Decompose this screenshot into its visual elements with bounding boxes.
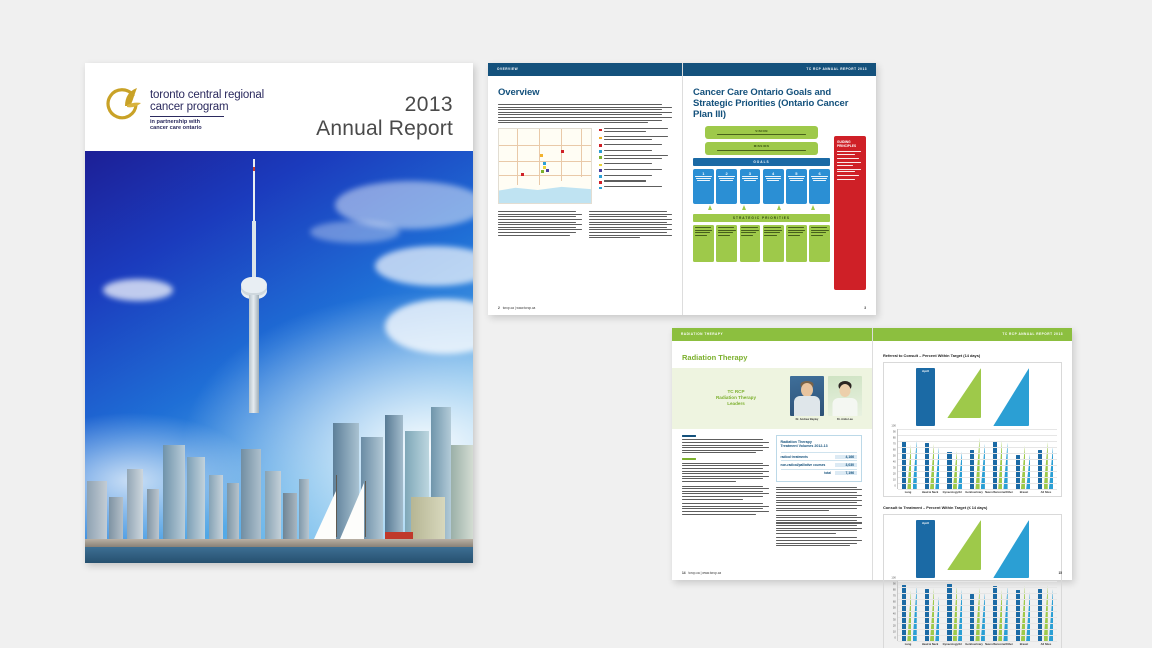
mission-text (705, 150, 818, 151)
x-tick-label: Neuro/Sarcoma/Other (985, 491, 1013, 494)
building (265, 471, 281, 541)
page-title: Overview (498, 87, 672, 98)
goal-number: 6 (811, 171, 829, 176)
partner-line-2: cancer care ontario (150, 125, 264, 131)
bar-group (989, 429, 1012, 489)
page-radiation-therapy: RADIATION THERAPY Radiation Therapy TC R… (672, 328, 872, 580)
body-columns: Radiation Therapy Treatment Volumes 2012… (682, 435, 862, 548)
y-tick-label: 20 (893, 473, 896, 476)
building (385, 415, 403, 541)
callout-title-line-2: Treatment Volumes 2012-13 (781, 444, 858, 449)
y-tick-label: 60 (893, 449, 896, 452)
building (411, 497, 445, 541)
annual-report-cover: toronto central regional cancer program … (85, 63, 473, 563)
bar-group (921, 429, 944, 489)
page-title-line-1: Cancer Care Ontario Goals and (693, 87, 866, 98)
legend-item (599, 136, 672, 141)
spread-overview: OVERVIEW Overview (488, 63, 876, 315)
bar (1003, 587, 1007, 642)
y-tick-label: 80 (893, 437, 896, 440)
x-tick-label: All Sites (1035, 491, 1057, 494)
page-content: Cancer Care Ontario Goals and Strategic … (683, 76, 876, 294)
priority-box (763, 225, 784, 262)
gridline (898, 605, 1057, 606)
torso (833, 398, 858, 416)
principle-item (837, 179, 863, 180)
cover-title-block: 2013 Annual Report (316, 93, 453, 141)
flow-arrows (693, 204, 830, 211)
vision-box: VISION (705, 126, 818, 139)
spread-radiation-therapy: RADIATION THERAPY Radiation Therapy TC R… (672, 328, 1072, 580)
leader-name: Dr. Anita Lau (828, 418, 862, 421)
chart-frame: April Sept March 0102030405060708090100 … (883, 362, 1062, 497)
avatar (790, 376, 824, 416)
arrow-up-icon (742, 205, 746, 210)
ship-sail (314, 491, 336, 539)
goal-number: 2 (718, 171, 736, 176)
y-tick-label: 80 (893, 589, 896, 592)
page-title-emphasis: Strategic Priorities (693, 98, 775, 109)
map-road (499, 145, 591, 146)
vision-text (705, 134, 818, 135)
bar-group (943, 581, 966, 641)
gridline (898, 477, 1057, 478)
guiding-principles-panel: GUIDING PRINCIPLES (834, 136, 866, 290)
chart-plot-area: 0102030405060708090100 (888, 581, 1057, 641)
legend-swatch (599, 150, 602, 153)
y-tick-label: 30 (893, 619, 896, 622)
face (840, 384, 851, 397)
y-tick-label: 100 (891, 577, 895, 580)
legend-item (599, 155, 672, 160)
bar (953, 586, 957, 641)
y-tick-label: 50 (893, 455, 896, 458)
leaders-label-line-3: Leaders (682, 401, 790, 407)
avatar (828, 376, 862, 416)
callout-row: non-radical/palliative courses 3,030 (781, 460, 858, 468)
chart-frame: April Sept March 0102030405060708090100 … (883, 514, 1062, 648)
goal-number: 1 (695, 171, 713, 176)
page-content: Radiation Therapy TC RCP Radiation Thera… (672, 341, 872, 548)
goal-box: 2 (716, 169, 737, 204)
legend-item (599, 169, 672, 172)
map-road (539, 129, 540, 185)
y-tick-label: 10 (893, 479, 896, 482)
bar-group (1012, 429, 1035, 489)
bar (1044, 585, 1048, 641)
y-tick-label: 0 (894, 485, 896, 488)
bar-group (989, 581, 1012, 641)
y-tick-label: 60 (893, 601, 896, 604)
callout-label: non-radical/palliative courses (781, 463, 826, 467)
gridline (898, 465, 1057, 466)
y-tick-label: 0 (894, 637, 896, 640)
bar-group (898, 581, 921, 641)
map-marker (521, 173, 524, 176)
body-column-right (589, 211, 673, 240)
runhead-label: TC RCP ANNUAL REPORT 2013 (1002, 332, 1063, 336)
bar (1021, 585, 1025, 641)
map-road (581, 129, 582, 177)
map-legend (599, 128, 672, 209)
diagram-main-column: VISION MISSION GOALS 1 2 3 4 (693, 126, 830, 262)
section-heading-goals (682, 435, 696, 437)
page-wait-times-charts: TC RCP ANNUAL REPORT 2013 Referral to Co… (872, 328, 1072, 580)
gridline (898, 447, 1057, 448)
callout-label: radical treatments (781, 455, 808, 459)
y-tick-label: 90 (893, 431, 896, 434)
priority-box (740, 225, 761, 262)
brand-line-2: cancer program (150, 102, 264, 114)
page-number: 3 (864, 306, 866, 310)
callout-row: radical treatments 4,166 (781, 452, 858, 460)
gridline (898, 441, 1057, 442)
x-tick-label: Gynecology/GI (941, 491, 963, 494)
city-skyline (85, 395, 473, 563)
callout-total-label: total (781, 471, 832, 475)
gridline (898, 611, 1057, 612)
page-number: 2 (498, 306, 500, 310)
report-title: Annual Report (316, 116, 453, 141)
gridline (898, 453, 1057, 454)
bar (998, 436, 1002, 489)
bar-group (921, 581, 944, 641)
callout-title: Radiation Therapy Treatment Volumes 2012… (781, 440, 858, 449)
page-runhead: RADIATION THERAPY (672, 328, 872, 341)
face (801, 383, 813, 397)
goals-row: 1 2 3 4 5 6 (693, 169, 830, 204)
y-tick-label: 100 (891, 425, 895, 428)
page-number: 14 (682, 571, 686, 575)
bar (1016, 455, 1020, 489)
cover-photograph (85, 151, 473, 563)
ship-mast (336, 475, 337, 537)
goal-box: 4 (763, 169, 784, 204)
y-axis: 0102030405060708090100 (888, 581, 898, 641)
tower-observation-pod (241, 277, 267, 293)
lake-water (85, 547, 473, 563)
gridline (898, 587, 1057, 588)
mission-caption: MISSION (705, 144, 818, 148)
bar-group (898, 429, 921, 489)
body-columns (498, 211, 672, 240)
building (299, 479, 309, 541)
x-tick-label: Breast (1013, 643, 1035, 646)
legend-item (599, 186, 672, 189)
legend-swatch (599, 175, 602, 178)
arrow-up-icon (708, 205, 712, 210)
gridline (898, 599, 1057, 600)
y-tick-label: 70 (893, 443, 896, 446)
logo-wordmark: toronto central regional cancer program … (150, 90, 264, 131)
map-marker (541, 170, 544, 173)
legend-item (599, 128, 672, 133)
building (87, 481, 107, 541)
page-footer: 14 tcrcp.ca | www.tcrcp.ca (682, 571, 862, 575)
legend-swatch (599, 137, 602, 140)
bar-group (1034, 429, 1057, 489)
callout-total-row: total 7,196 (781, 469, 858, 477)
screenshot-canvas: toronto central regional cancer program … (0, 0, 1152, 648)
callout-value: 4,166 (835, 455, 857, 459)
page-title: Radiation Therapy (682, 353, 862, 362)
gridline (898, 471, 1057, 472)
map-marker (543, 162, 546, 165)
bar (1038, 450, 1042, 489)
legend-swatch (599, 144, 602, 147)
legend-swatch (599, 181, 602, 184)
map-marker (546, 169, 549, 172)
priority-box (693, 225, 714, 262)
chart-legend: April Sept March (888, 520, 1057, 578)
tower-upper-mast (252, 221, 256, 279)
legend-item (599, 144, 672, 147)
chart-title: Referral to Consult – Percent Within Tar… (883, 353, 1062, 358)
bar-group (943, 429, 966, 489)
gridline (898, 641, 1057, 642)
arrow-up-icon (777, 205, 781, 210)
y-axis: 0102030405060708090100 (888, 429, 898, 489)
footer-text: tcrcp.ca | www.tcrcp.ca (503, 306, 536, 310)
callout-total-value: 7,196 (835, 471, 857, 475)
legend-item (599, 150, 672, 153)
leader-name: Dr. Andrew Bayley (790, 418, 824, 421)
bar-group (966, 429, 989, 489)
y-tick-label: 50 (893, 607, 896, 610)
page-cco-goals: TC RCP ANNUAL REPORT 2013 Cancer Care On… (682, 63, 876, 315)
legend-swatch (599, 169, 602, 172)
guiding-principles-title: GUIDING PRINCIPLES (837, 140, 863, 148)
leaders-label: TC RCP Radiation Therapy Leaders (682, 389, 790, 408)
legend-entry: Sept (947, 520, 981, 570)
map-road (517, 129, 518, 185)
legend-item (599, 163, 672, 166)
section-heading-results (682, 458, 696, 460)
bar (930, 586, 934, 641)
x-axis-labels: LungHead & NeckGynecology/GIGenitourinar… (897, 643, 1057, 646)
map-and-legend (498, 128, 672, 209)
building (209, 475, 223, 541)
body-column-left (498, 211, 582, 240)
priority-box (716, 225, 737, 262)
leader-card: Dr. Andrew Bayley (790, 376, 824, 421)
bar-group (1012, 581, 1035, 641)
x-tick-label: Breast (1013, 491, 1035, 494)
ship-sail (340, 483, 364, 539)
logo: toronto central regional cancer program … (103, 83, 264, 131)
goal-number: 4 (764, 171, 782, 176)
leader-card: Dr. Anita Lau (828, 376, 862, 421)
gridline (898, 459, 1057, 460)
y-tick-label: 30 (893, 467, 896, 470)
page-title-line-2: Strategic Priorities (Ontario Cancer Pla… (693, 98, 866, 120)
goal-number: 3 (741, 171, 759, 176)
gridline (898, 593, 1057, 594)
bar (958, 587, 962, 641)
leader-photos: Dr. Andrew Bayley Dr. Anita Lau (790, 376, 862, 421)
page-footer: 3 (693, 306, 866, 310)
gridline (898, 623, 1057, 624)
legend-swatch (599, 187, 602, 190)
legend-entry: April (916, 520, 935, 578)
x-tick-label: Head & Neck (919, 643, 941, 646)
vision-caption: VISION (705, 129, 818, 133)
building (227, 483, 239, 541)
bar (902, 585, 906, 641)
goal-number: 5 (788, 171, 806, 176)
page-title: Cancer Care Ontario Goals and Strategic … (693, 87, 866, 120)
lhin-map (498, 128, 592, 204)
page-content: Referral to Consult – Percent Within Tar… (873, 341, 1072, 648)
cloud (310, 221, 400, 243)
y-tick-label: 70 (893, 595, 896, 598)
bar (925, 589, 929, 641)
legend-entry: April (916, 368, 935, 426)
principle-item (837, 169, 863, 173)
x-tick-label: All Sites (1035, 643, 1057, 646)
legend-swatch (599, 156, 602, 159)
footer-text: tcrcp.ca | www.tcrcp.ca (689, 571, 722, 575)
priorities-row (693, 225, 830, 262)
page-runhead: OVERVIEW (488, 63, 682, 76)
x-tick-label: Head & Neck (919, 491, 941, 494)
priority-box (786, 225, 807, 262)
ocp3-framework-diagram: VISION MISSION GOALS 1 2 3 4 (693, 126, 866, 294)
x-tick-label: Genitourinary (963, 491, 985, 494)
legend-entry: March (993, 520, 1029, 578)
page-content: Overview (488, 76, 682, 240)
x-tick-label: Neuro/Sarcoma/Other (985, 643, 1013, 646)
legend-entry: Sept (947, 368, 981, 418)
intro-paragraph (498, 104, 672, 123)
chart-title: Consult to Treatment – Percent Within Ta… (883, 505, 1062, 510)
principle-item (837, 162, 863, 166)
page-overview: OVERVIEW Overview (488, 63, 682, 315)
cloud (103, 279, 173, 301)
principle-item (837, 175, 863, 176)
priority-box (809, 225, 830, 262)
mission-box: MISSION (705, 142, 818, 155)
x-tick-label: Genitourinary (963, 643, 985, 646)
x-tick-label: Gynecology/GI (941, 643, 963, 646)
legend-swatch (599, 164, 602, 167)
cover-header: toronto central regional cancer program … (85, 63, 473, 151)
runhead-label: RADIATION THERAPY (681, 332, 723, 336)
x-tick-label: Lung (897, 491, 919, 494)
chart-consult-to-treatment: Consult to Treatment – Percent Within Ta… (883, 505, 1062, 648)
bar-group (966, 581, 989, 641)
principle-item (837, 151, 863, 155)
report-year: 2013 (316, 93, 453, 116)
bar (913, 586, 917, 641)
building (283, 493, 297, 541)
gridline (898, 429, 1057, 430)
page-number: 15 (1058, 571, 1062, 575)
bar (1049, 588, 1053, 641)
bar-groups (898, 581, 1057, 641)
cn-tower (237, 159, 271, 409)
bar (975, 588, 979, 641)
goals-bar: GOALS (693, 158, 830, 166)
map-road (499, 175, 591, 176)
goal-box: 6 (809, 169, 830, 204)
map-marker (540, 154, 543, 157)
y-tick-label: 20 (893, 625, 896, 628)
tower-antenna-marker (253, 167, 255, 171)
cco-swirl-leaf-icon (103, 83, 145, 129)
gridline (898, 483, 1057, 484)
body-column-right: Radiation Therapy Treatment Volumes 2012… (776, 435, 863, 548)
leaders-band: TC RCP Radiation Therapy Leaders Dr. And… (672, 368, 872, 429)
chart-referral-to-consult: Referral to Consult – Percent Within Tar… (883, 353, 1062, 497)
runhead-label: OVERVIEW (497, 67, 518, 71)
chart-grid (898, 429, 1057, 489)
page-footer: 15 (883, 571, 1062, 575)
gridline (898, 581, 1057, 582)
y-tick-label: 90 (893, 583, 896, 586)
principle-item (837, 158, 863, 159)
goal-box: 3 (740, 169, 761, 204)
building (451, 445, 473, 541)
legend-entry: March (993, 368, 1029, 426)
building (163, 445, 185, 541)
building (241, 449, 261, 541)
bar-groups (898, 429, 1057, 489)
bar (970, 450, 974, 489)
arrow-up-icon (811, 205, 815, 210)
building (127, 469, 143, 541)
bar (958, 450, 962, 490)
bar (1026, 587, 1030, 641)
chart-legend: April Sept March (888, 368, 1057, 426)
building (147, 489, 159, 541)
gridline (898, 617, 1057, 618)
gridline (898, 635, 1057, 636)
page-runhead: TC RCP ANNUAL REPORT 2013 (873, 328, 1072, 341)
gridline (898, 435, 1057, 436)
bar (975, 438, 979, 490)
torso (794, 396, 820, 416)
legend-item (599, 180, 672, 183)
building (187, 457, 205, 541)
bar (998, 585, 1002, 641)
y-tick-label: 40 (893, 613, 896, 616)
chart-grid (898, 581, 1057, 641)
bar (1038, 589, 1042, 641)
bar-group (1034, 581, 1057, 641)
goal-box: 5 (786, 169, 807, 204)
gridline (898, 629, 1057, 630)
ship-mast (365, 481, 366, 537)
chart-plot-area: 0102030405060708090100 (888, 429, 1057, 489)
treatment-volumes-callout: Radiation Therapy Treatment Volumes 2012… (776, 435, 863, 482)
runhead-label: TC RCP ANNUAL REPORT 2013 (806, 67, 867, 71)
legend-swatch (599, 129, 602, 132)
logo-divider (150, 116, 224, 117)
gridline (898, 489, 1057, 490)
map-marker (561, 150, 564, 153)
page-footer: 2 tcrcp.ca | www.tcrcp.ca (498, 306, 672, 310)
goal-box: 1 (693, 169, 714, 204)
strategic-priorities-bar: STRATEGIC PRIORITIES (693, 214, 830, 222)
tall-ship (310, 473, 370, 539)
body-column-left (682, 435, 769, 548)
page-runhead: TC RCP ANNUAL REPORT 2013 (683, 63, 876, 76)
callout-value: 3,030 (835, 463, 857, 467)
x-tick-label: Lung (897, 643, 919, 646)
bar (993, 586, 997, 641)
map-road (561, 129, 562, 181)
